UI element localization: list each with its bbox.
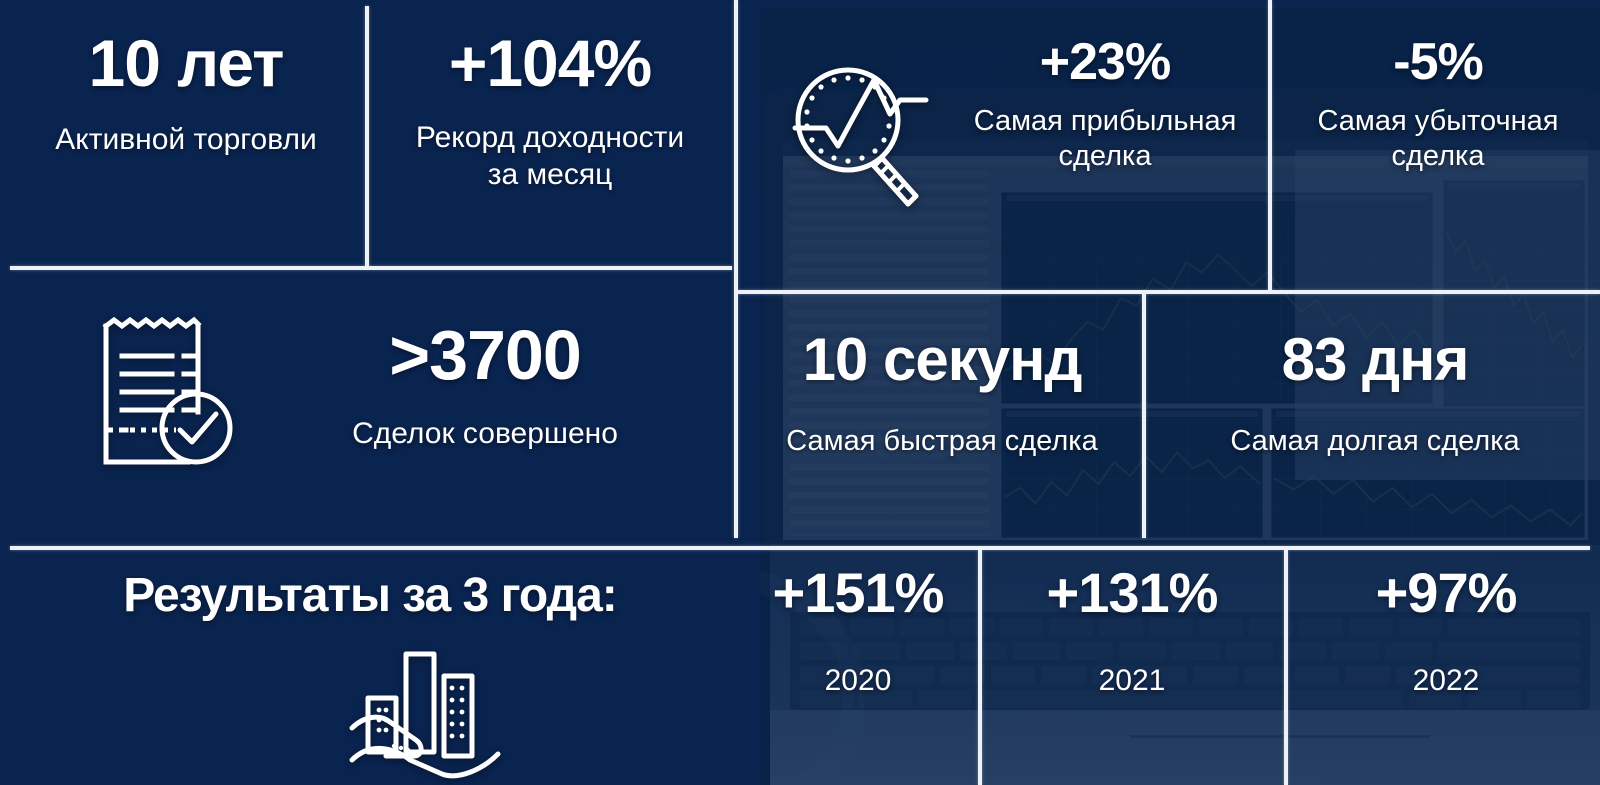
divider-vertical-2020-2021 xyxy=(978,550,982,785)
result-2022-label: 2022 xyxy=(1292,663,1600,700)
stat-record-value: +104% xyxy=(372,30,728,96)
divider-horizontal-bottom xyxy=(10,546,1590,550)
stat-longest-caption: Самая долгая сделка xyxy=(1150,424,1600,459)
result-year-2021: +131% 2021 xyxy=(986,565,1278,700)
divider-vertical-2021-2022 xyxy=(1284,550,1288,785)
stat-most-profitable-caption: Самая прибыльная сделка xyxy=(940,104,1270,175)
divider-horizontal-upper xyxy=(10,266,732,270)
stat-fastest-value: 10 секунд xyxy=(744,330,1140,390)
stat-most-loss-caption-line2: сделка xyxy=(1276,139,1600,174)
divider-vertical-mid-right xyxy=(1142,292,1146,538)
stat-deals-caption: Сделок совершено xyxy=(250,416,720,453)
stat-longest-value: 83 дня xyxy=(1150,330,1600,390)
stat-record-caption-line2: за месяц xyxy=(372,157,728,194)
stat-record: +104% Рекорд доходности за месяц xyxy=(372,30,728,193)
result-2021-label: 2021 xyxy=(986,663,1278,700)
divider-horizontal-right xyxy=(738,290,1600,294)
divider-vertical-center xyxy=(734,0,738,538)
results-title-text: Результаты за 3 года: xyxy=(20,572,720,620)
stat-fastest-caption: Самая быстрая сделка xyxy=(744,424,1140,459)
result-2021-value: +131% xyxy=(986,565,1278,621)
hand-buildings-icon xyxy=(346,642,511,785)
stat-most-profitable-value: +23% xyxy=(940,36,1270,88)
result-2020-label: 2020 xyxy=(742,663,974,700)
result-year-2022: +97% 2022 xyxy=(1292,565,1600,700)
stat-years-value: 10 лет xyxy=(10,30,362,96)
stat-deals: >3700 Сделок совершено xyxy=(250,320,720,453)
stat-fastest: 10 секунд Самая быстрая сделка xyxy=(744,330,1140,459)
receipt-check-icon xyxy=(92,312,242,472)
result-2020-value: +151% xyxy=(742,565,974,621)
stat-years: 10 лет Активной торговли xyxy=(10,30,362,159)
stat-most-loss-value: -5% xyxy=(1276,36,1600,88)
stat-most-loss: -5% Самая убыточная сделка xyxy=(1276,36,1600,175)
result-2022-value: +97% xyxy=(1292,565,1600,621)
stat-years-caption: Активной торговли xyxy=(10,122,362,159)
stat-longest: 83 дня Самая долгая сделка xyxy=(1150,330,1600,459)
stat-most-profitable-caption-line2: сделка xyxy=(940,139,1270,174)
stat-most-profitable-caption-line1: Самая прибыльная xyxy=(940,104,1270,139)
stat-record-caption: Рекорд доходности за месяц xyxy=(372,120,728,193)
stat-most-profitable: +23% Самая прибыльная сделка xyxy=(940,36,1270,175)
result-year-2020: +151% 2020 xyxy=(742,565,974,700)
stat-most-loss-caption-line1: Самая убыточная xyxy=(1276,104,1600,139)
infographic-slide: 10 лет Активной торговли +104% Рекорд до… xyxy=(0,0,1600,785)
stat-most-loss-caption: Самая убыточная сделка xyxy=(1276,104,1600,175)
stat-record-caption-line1: Рекорд доходности xyxy=(372,120,728,157)
search-chart-icon xyxy=(790,62,930,217)
results-title: Результаты за 3 года: xyxy=(20,572,720,620)
stat-deals-value: >3700 xyxy=(250,320,720,390)
divider-vertical-top-left xyxy=(365,6,369,268)
